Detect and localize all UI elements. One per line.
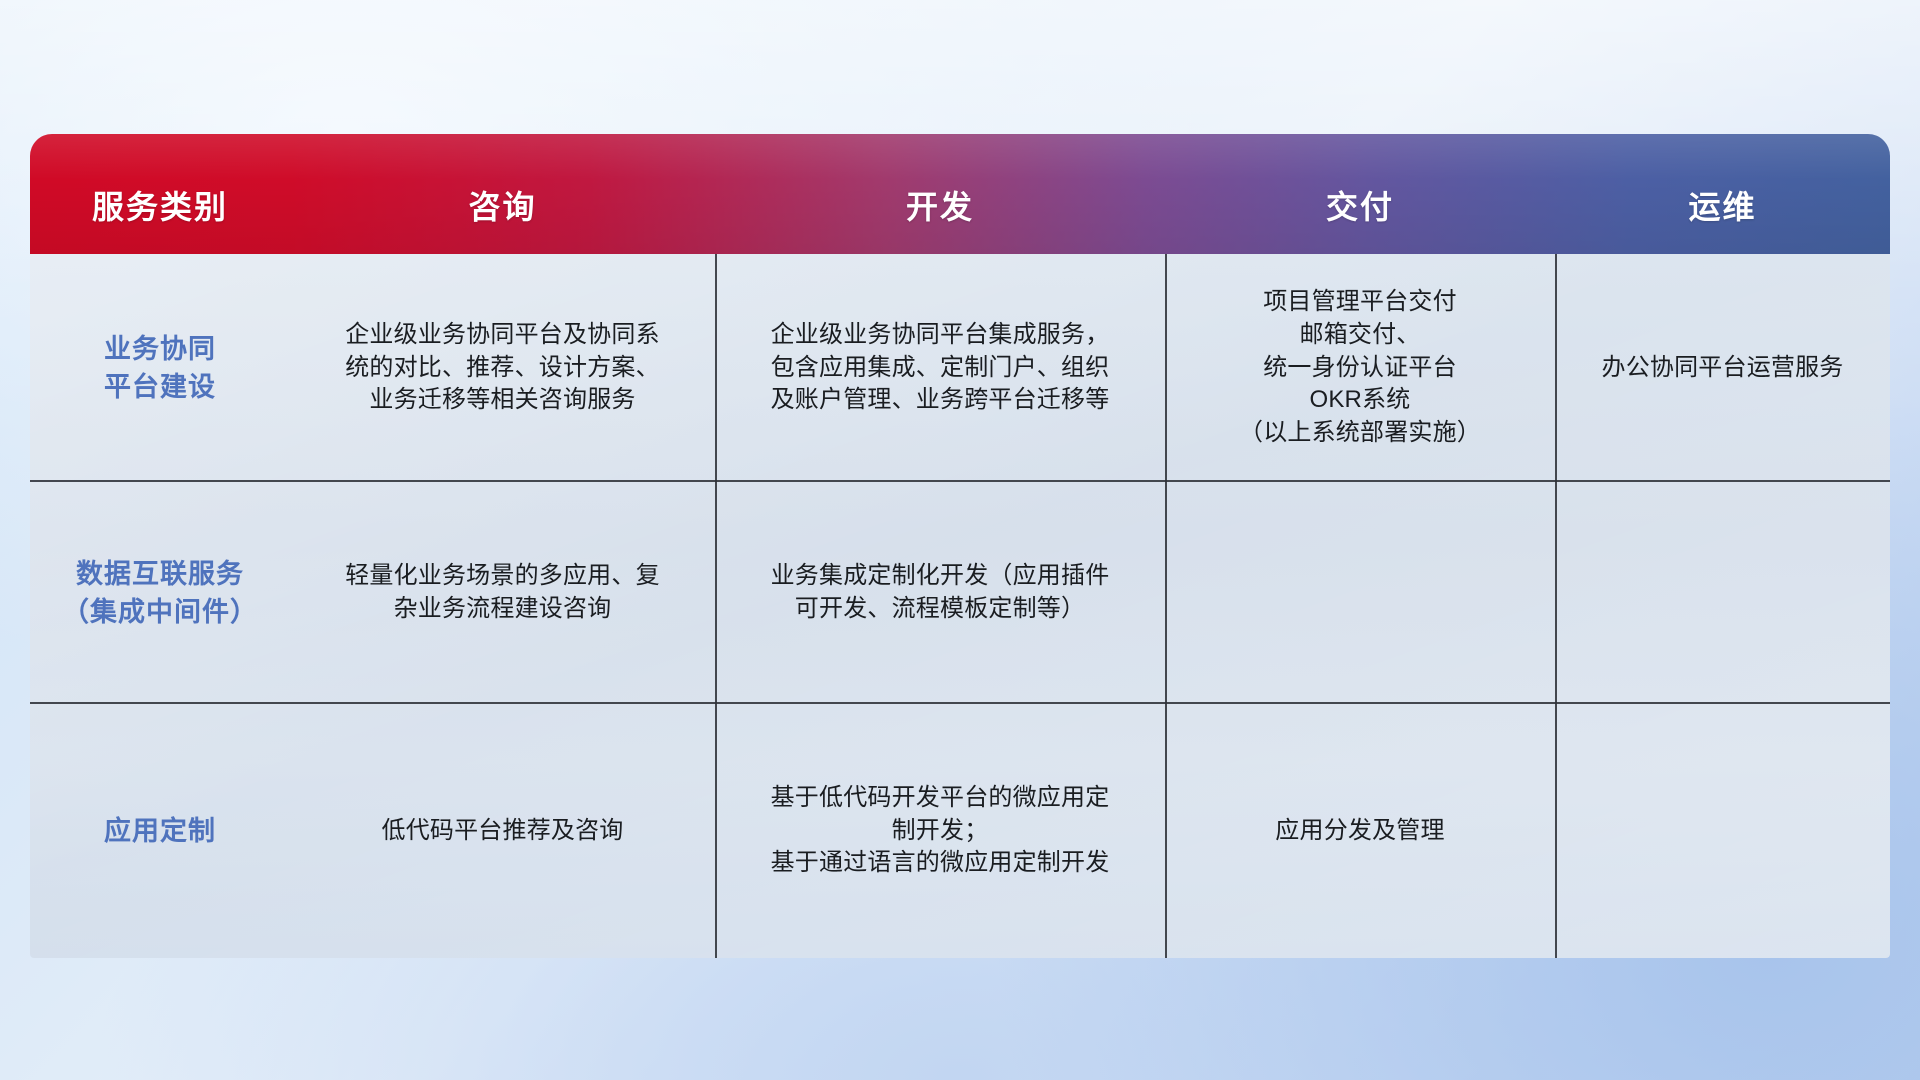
row-category-cell: 应用定制 (30, 704, 290, 958)
row-category-label: 业务协同 平台建设 (104, 330, 216, 407)
row-divider (30, 702, 1890, 704)
table-body: 业务协同 平台建设 企业级业务协同平台及协同系 统的对比、推荐、设计方案、 业务… (30, 254, 1890, 958)
column-header-category: 服务类别 (30, 182, 290, 254)
cell-consulting-text: 低代码平台推荐及咨询 (382, 815, 624, 848)
cell-consulting: 低代码平台推荐及咨询 (290, 704, 715, 958)
column-header-delivery: 交付 (1165, 182, 1555, 254)
column-divider-development-delivery (1165, 254, 1167, 958)
row-divider (30, 480, 1890, 482)
row-category-cell: 数据互联服务 （集成中间件） (30, 482, 290, 704)
column-header-operations: 运维 (1555, 182, 1890, 254)
column-divider-consulting-development (715, 254, 717, 958)
row-category-label: 应用定制 (104, 812, 216, 850)
row-category-cell: 业务协同 平台建设 (30, 254, 290, 482)
cell-delivery: 应用分发及管理 (1165, 704, 1555, 958)
cell-consulting: 轻量化业务场景的多应用、复 杂业务流程建设咨询 (290, 482, 715, 704)
table-row: 业务协同 平台建设 企业级业务协同平台及协同系 统的对比、推荐、设计方案、 业务… (30, 254, 1890, 482)
cell-development: 基于低代码开发平台的微应用定 制开发； 基于通过语言的微应用定制开发 (715, 704, 1165, 958)
cell-consulting: 企业级业务协同平台及协同系 统的对比、推荐、设计方案、 业务迁移等相关咨询服务 (290, 254, 715, 482)
column-divider-delivery-operations (1555, 254, 1557, 958)
cell-consulting-text: 企业级业务协同平台及协同系 统的对比、推荐、设计方案、 业务迁移等相关咨询服务 (345, 319, 660, 417)
column-header-development: 开发 (715, 182, 1165, 254)
table-header-row: 服务类别 咨询 开发 交付 运维 (30, 134, 1890, 254)
cell-development: 业务集成定制化开发（应用插件 可开发、流程模板定制等） (715, 482, 1165, 704)
cell-development-text: 基于低代码开发平台的微应用定 制开发； 基于通过语言的微应用定制开发 (771, 782, 1110, 880)
row-category-label: 数据互联服务 （集成中间件） (62, 555, 258, 632)
column-header-consulting: 咨询 (290, 182, 715, 254)
service-matrix-table: 服务类别 咨询 开发 交付 运维 业务协同 平台建设 企业级业务协同平台及协同系… (30, 134, 1890, 958)
cell-delivery (1165, 482, 1555, 704)
cell-development: 企业级业务协同平台集成服务， 包含应用集成、定制门户、组织 及账户管理、业务跨平… (715, 254, 1165, 482)
cell-delivery-text: 项目管理平台交付 邮箱交付、 统一身份认证平台 OKR系统 （以上系统部署实施） (1239, 286, 1481, 449)
cell-operations: 办公协同平台运营服务 (1555, 254, 1890, 482)
cell-operations-text: 办公协同平台运营服务 (1602, 352, 1844, 385)
cell-operations (1555, 704, 1890, 958)
cell-development-text: 业务集成定制化开发（应用插件 可开发、流程模板定制等） (771, 560, 1110, 625)
table-row: 数据互联服务 （集成中间件） 轻量化业务场景的多应用、复 杂业务流程建设咨询 业… (30, 482, 1890, 704)
table-row: 应用定制 低代码平台推荐及咨询 基于低代码开发平台的微应用定 制开发； 基于通过… (30, 704, 1890, 958)
cell-operations (1555, 482, 1890, 704)
cell-development-text: 企业级业务协同平台集成服务， 包含应用集成、定制门户、组织 及账户管理、业务跨平… (771, 319, 1110, 417)
cell-delivery: 项目管理平台交付 邮箱交付、 统一身份认证平台 OKR系统 （以上系统部署实施） (1165, 254, 1555, 482)
cell-delivery-text: 应用分发及管理 (1275, 815, 1444, 848)
cell-consulting-text: 轻量化业务场景的多应用、复 杂业务流程建设咨询 (345, 560, 660, 625)
